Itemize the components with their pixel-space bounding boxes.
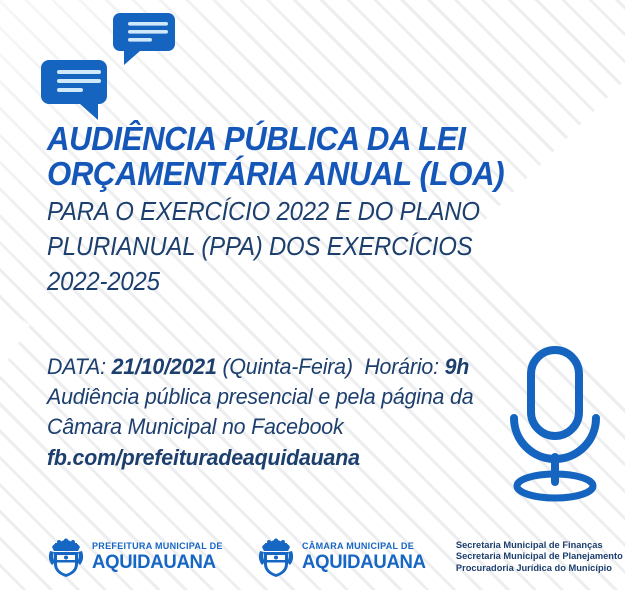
description-line-2: Câmara Municipal no Facebook bbox=[47, 412, 494, 442]
coat-of-arms-icon bbox=[46, 535, 86, 579]
weekday-value: (Quinta-Feira) bbox=[222, 354, 352, 379]
bubble-lower-icon bbox=[41, 60, 107, 120]
poster-canvas: AUDIÊNCIA PÚBLICA DA LEI ORÇAMENTÁRIA AN… bbox=[0, 0, 625, 590]
microphone-icon bbox=[500, 344, 610, 509]
event-info-block: DATA: 21/10/2021 (Quinta-Feira) Horário:… bbox=[47, 352, 517, 473]
time-value: 9h bbox=[445, 354, 470, 379]
speech-bubbles-group bbox=[0, 0, 300, 130]
date-label: DATA: bbox=[47, 354, 106, 379]
secretaria-line-2: Secretaria Municipal de Planejamento e U… bbox=[456, 551, 625, 563]
date-time-line: DATA: 21/10/2021 (Quinta-Feira) Horário:… bbox=[47, 352, 494, 382]
secretarias-list: Secretaria Municipal de Finanças Secreta… bbox=[456, 540, 625, 575]
date-value: 21/10/2021 bbox=[112, 354, 217, 379]
coat-of-arms-icon bbox=[256, 535, 296, 579]
subtitle-line-2: PLURIANUAL (PPA) DOS EXERCÍCIOS bbox=[47, 230, 525, 262]
logo-prefeitura-aquidauana: PREFEITURA MUNICIPAL DE AQUIDAUANA bbox=[46, 535, 230, 579]
subtitle-line-1: PARA O EXERCÍCIO 2022 E DO PLANO bbox=[47, 195, 525, 227]
facebook-url[interactable]: fb.com/prefeituradeaquidauana bbox=[47, 442, 494, 473]
description-line-1: Audiência pública presencial e pela pági… bbox=[47, 382, 494, 412]
logo-camara-bottom: AQUIDAUANA bbox=[302, 553, 426, 573]
title-line-1: AUDIÊNCIA PÚBLICA DA LEI bbox=[47, 122, 531, 157]
logo-prefeitura-bottom: AQUIDAUANA bbox=[92, 553, 223, 573]
bubble-upper-icon bbox=[113, 13, 175, 65]
title-block: AUDIÊNCIA PÚBLICA DA LEI ORÇAMENTÁRIA AN… bbox=[47, 122, 567, 297]
title-line-2: ORÇAMENTÁRIA ANUAL (LOA) bbox=[47, 157, 531, 192]
footer-bar: PREFEITURA MUNICIPAL DE AQUIDAUANA CÂMAR… bbox=[0, 524, 625, 590]
secretaria-line-1: Secretaria Municipal de Finanças bbox=[456, 540, 625, 552]
logo-camara-aquidauana: CÂMARA MUNICIPAL DE AQUIDAUANA bbox=[256, 535, 432, 579]
subtitle-line-3: 2022-2025 bbox=[47, 265, 525, 297]
time-label: Horário: bbox=[364, 354, 439, 379]
secretaria-line-3: Procuradoria Jurídica do Município bbox=[456, 563, 625, 575]
